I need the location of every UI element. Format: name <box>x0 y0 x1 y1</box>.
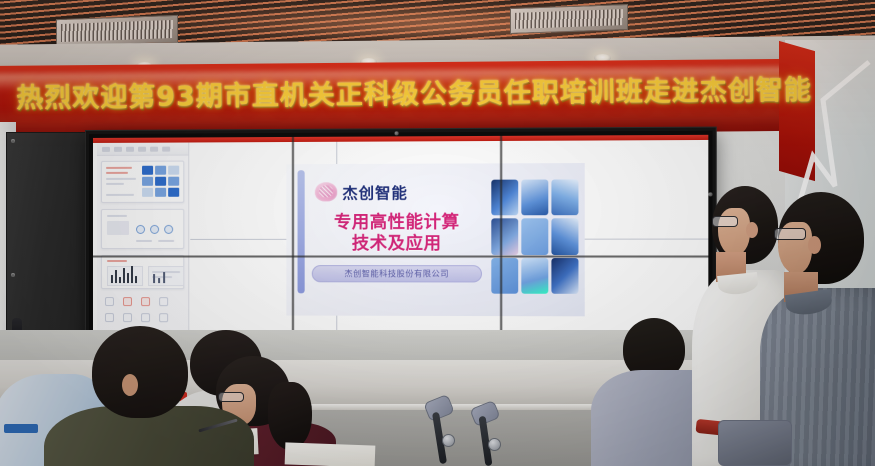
slide-title: 专用高性能计算 技术及应用 <box>315 212 479 255</box>
slide-brand-name: 杰创智能 <box>342 182 408 203</box>
slide-title-line1: 专用高性能计算 <box>315 212 479 234</box>
panel-icon[interactable] <box>141 313 150 322</box>
presentation-slide[interactable]: 杰创智能 专用高性能计算 技术及应用 杰创智能科技股份有限公司 <box>286 163 584 316</box>
bezel-seam-horizontal <box>93 255 708 258</box>
panel-circle-button[interactable] <box>136 225 145 234</box>
chair-adjust-knob[interactable] <box>488 438 501 451</box>
slide-accent-bar <box>298 170 305 293</box>
documents <box>285 442 376 466</box>
ceiling-glow <box>120 0 740 40</box>
panel-circle-button[interactable] <box>164 225 173 234</box>
chair-adjust-knob[interactable] <box>442 434 455 447</box>
slide-photo-grid <box>491 179 578 293</box>
thumbnail-card-chart[interactable] <box>101 255 184 289</box>
bezel-screw-icon <box>395 131 399 135</box>
slide-company-name: 杰创智能科技股份有限公司 <box>312 265 482 282</box>
photo-tile <box>551 179 578 215</box>
panel-icon[interactable] <box>159 297 168 306</box>
photo-tile <box>551 258 578 294</box>
slide-thumbnail-panel[interactable] <box>97 142 189 356</box>
jiechuang-logo-icon <box>315 182 337 201</box>
thumbnail-card-middle[interactable] <box>101 209 184 249</box>
panel-icon[interactable] <box>123 313 132 322</box>
cabinet-screw-icon <box>11 273 15 277</box>
photo-tile <box>521 180 548 216</box>
slide-title-line2: 技术及应用 <box>315 234 479 255</box>
photo-tile <box>521 219 548 255</box>
photo-tile <box>491 258 518 294</box>
ear <box>808 236 821 254</box>
air-vent-right-icon <box>510 4 628 34</box>
panel-icon[interactable] <box>141 297 150 306</box>
photo-tile <box>491 219 518 255</box>
photo-tile <box>491 180 518 216</box>
ponytail <box>268 382 312 450</box>
panel-icon[interactable] <box>159 313 168 322</box>
photo-tile <box>551 219 578 255</box>
seated-man-olive-shirt <box>50 326 240 466</box>
photo-tile <box>521 258 548 294</box>
ear <box>746 222 758 238</box>
name-badge <box>4 424 38 433</box>
glasses-icon <box>774 228 806 240</box>
head <box>778 192 864 284</box>
panel-icon[interactable] <box>105 297 114 306</box>
ear <box>122 374 138 396</box>
glasses-icon <box>712 216 738 227</box>
panel-icon[interactable] <box>123 297 132 306</box>
panel-circle-button[interactable] <box>150 225 159 234</box>
chair-center <box>470 404 528 466</box>
head <box>92 326 188 418</box>
thumbnail-card-top[interactable] <box>101 161 184 203</box>
panel-toolbar[interactable] <box>97 142 188 155</box>
chair-backrest <box>718 420 792 466</box>
panel-icon[interactable] <box>105 313 114 322</box>
cabinet-screw-icon <box>11 139 15 143</box>
chair-right <box>718 416 798 466</box>
conference-room-photo: 热烈欢迎第93期市直机关正科级公务员任职培训班走进杰创智能 <box>0 0 875 466</box>
